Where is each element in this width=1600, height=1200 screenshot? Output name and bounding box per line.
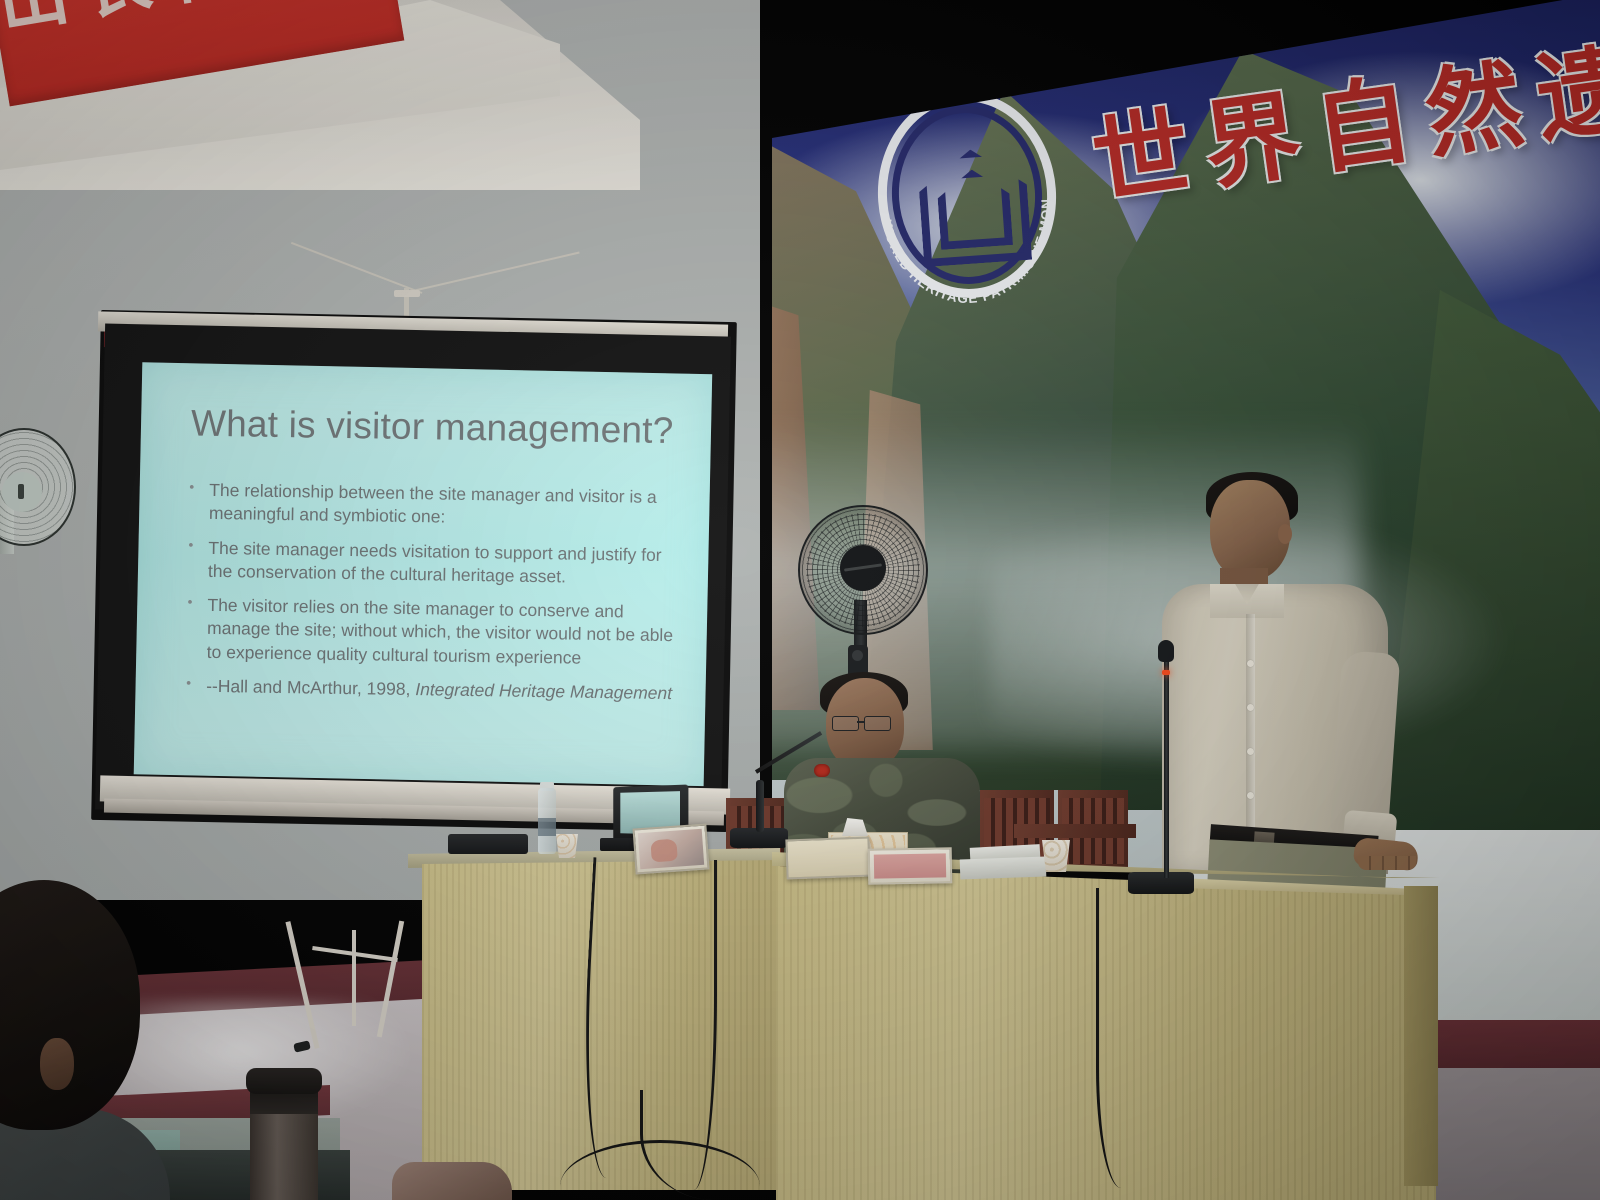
microphone-stem-speaker	[1164, 648, 1169, 878]
presentation-slide: What is visitor management? The relation…	[135, 364, 711, 785]
ear	[1278, 524, 1292, 544]
table-side-panel	[1404, 886, 1438, 1186]
standing-speaker	[1158, 472, 1408, 902]
microphone-head-speaker	[1158, 640, 1174, 662]
pedestal-fan-icon	[798, 505, 928, 635]
photograph-scene: 山农村危房 世界遗产 WORLD HERITAGE PATRIMOINE MON…	[0, 0, 1600, 1200]
black-equipment-case	[448, 834, 528, 854]
shirt-button	[1247, 748, 1254, 755]
citation-prefix: --Hall and McArthur, 1998,	[206, 676, 415, 699]
name-plate-right	[868, 847, 953, 884]
slide-bullet: The visitor relies on the site manager t…	[185, 594, 674, 671]
citation-title: Integrated Heritage Management	[415, 679, 672, 703]
foreground-object	[392, 1162, 512, 1200]
ear	[40, 1038, 74, 1090]
projector-screen: What is visitor management? The relation…	[95, 323, 731, 822]
paper-stack	[960, 857, 1047, 880]
bottle-label	[538, 818, 556, 836]
microphone-head-seated	[814, 764, 830, 777]
shirt-button	[1247, 660, 1254, 667]
tumbler-lid	[246, 1068, 322, 1094]
cable	[1096, 888, 1159, 1188]
slide-heading: What is visitor management?	[188, 403, 677, 453]
tumbler-band	[250, 1092, 318, 1114]
wall-fan-icon	[0, 428, 76, 546]
pedestal-fan-knob[interactable]	[852, 650, 863, 661]
paper-cup-left	[556, 834, 578, 858]
head-back-view	[0, 880, 140, 1130]
chair-rail	[1014, 824, 1136, 838]
slide-citation: --Hall and McArthur, 1998, Integrated He…	[184, 674, 672, 705]
microphone-led-indicator	[1162, 670, 1170, 675]
tripod-leg	[352, 930, 356, 1026]
name-plate-centre	[785, 837, 870, 880]
shirt-placket	[1246, 614, 1255, 836]
paper-cup-right	[1042, 840, 1070, 872]
slide-bullet: The relationship between the site manage…	[187, 478, 676, 532]
world-heritage-emblem: 世界遗产 WORLD HERITAGE PATRIMOINE MONDIAL	[860, 62, 1070, 310]
microphone-stem-seated	[756, 780, 764, 832]
slide-bullet-list: The relationship between the site manage…	[184, 478, 675, 705]
slide-bullet: The site manager needs visitation to sup…	[186, 536, 675, 590]
fingers	[1358, 856, 1416, 870]
audience-member	[0, 880, 190, 1200]
screen-support-cap	[394, 290, 420, 297]
eyeglasses-icon	[832, 716, 898, 730]
shirt-button	[1247, 704, 1254, 711]
emblem-diamond	[908, 140, 1026, 265]
shirt-button	[1247, 792, 1254, 799]
red-banner-text: 山农村危房	[0, 0, 404, 40]
